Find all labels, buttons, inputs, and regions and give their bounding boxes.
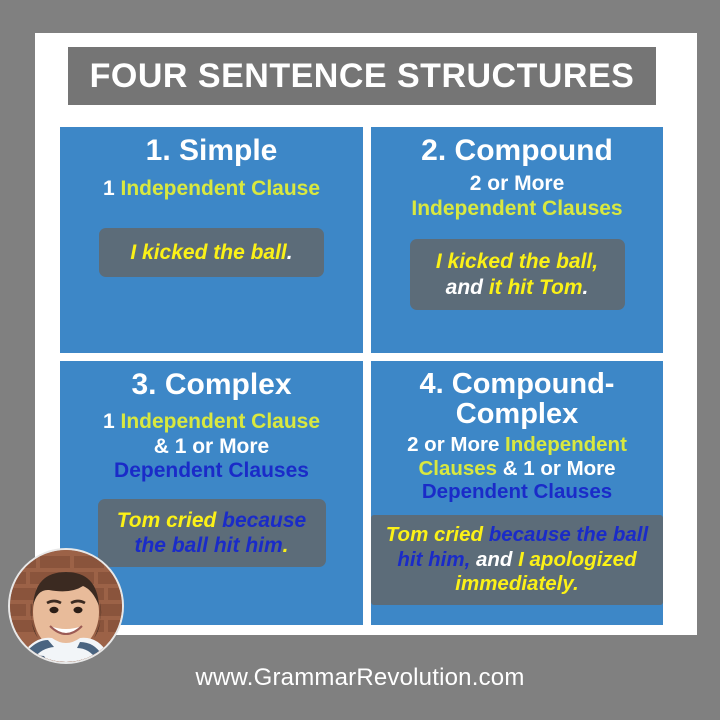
example-box-simple: I kicked the ball. (99, 228, 324, 277)
example-box-compound-complex: Tom cried because the ball hit him, and … (371, 515, 663, 605)
panel-compound-complex: 4. Compound-Complex 2 or More Independen… (371, 361, 663, 625)
title-banner: FOUR SENTENCE STRUCTURES (68, 47, 656, 105)
page-title: FOUR SENTENCE STRUCTURES (90, 57, 635, 96)
panel-description-complex: 1 Independent Clause& 1 or MoreDependent… (99, 400, 324, 484)
panel-description-simple: 1 Independent Clause (99, 166, 324, 202)
sentence-structure-grid: 1. Simple 1 Independent Clause I kicked … (60, 127, 663, 625)
example-box-complex: Tom cried because the ball hit him. (98, 499, 326, 567)
panel-compound: 2. Compound 2 or MoreIndependent Clauses… (371, 127, 663, 353)
panel-description-compound-complex: 2 or More Independent Clauses & 1 or Mor… (371, 429, 663, 504)
panel-heading-complex: 3. Complex (127, 367, 295, 400)
panel-heading-compound-complex: 4. Compound-Complex (371, 367, 663, 429)
example-box-compound: I kicked the ball,and it hit Tom. (410, 239, 625, 309)
panel-heading-simple: 1. Simple (142, 133, 282, 166)
footer: www.GrammarRevolution.com (0, 635, 720, 720)
panel-heading-compound: 2. Compound (417, 133, 617, 166)
panel-description-compound: 2 or MoreIndependent Clauses (407, 166, 626, 221)
footer-website-url: www.GrammarRevolution.com (195, 664, 524, 692)
infographic-poster: FOUR SENTENCE STRUCTURES 1. Simple 1 Ind… (0, 0, 720, 720)
panel-simple: 1. Simple 1 Independent Clause I kicked … (60, 127, 363, 353)
content-card: FOUR SENTENCE STRUCTURES 1. Simple 1 Ind… (35, 33, 697, 635)
